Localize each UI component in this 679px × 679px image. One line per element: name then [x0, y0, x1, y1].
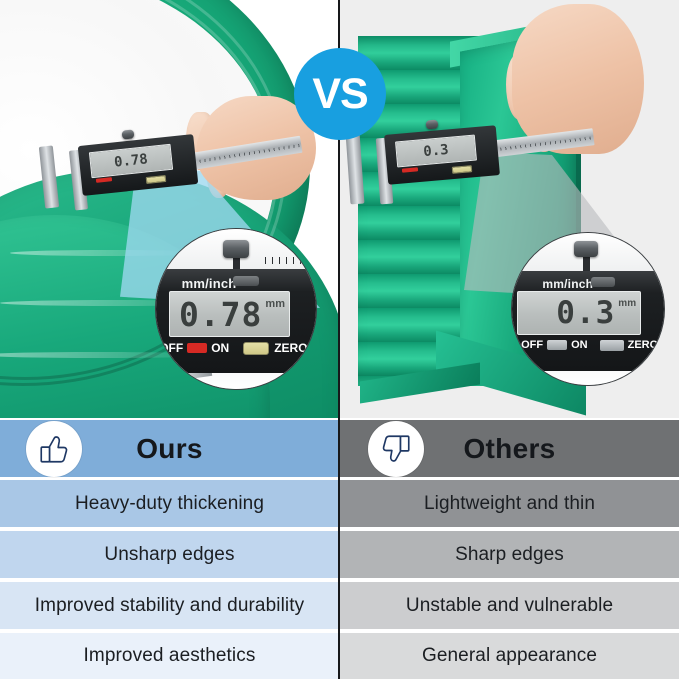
- ours-row-2: Unsharp edges: [0, 531, 339, 578]
- ours-row-3: Improved stability and durability: [0, 582, 339, 629]
- magnifier-left: mm/inch 0.78 mm OFF ON ZERO: [155, 228, 317, 390]
- others-row-2: Sharp edges: [340, 531, 679, 578]
- magnified-switch-slider-left: [187, 343, 207, 353]
- ours-row-1-text: Heavy-duty thickening: [75, 493, 264, 515]
- others-photo-panel: 0.3 mm/inch 0.3 mm OFF: [340, 0, 679, 418]
- magnified-lcd-unit-left: mm: [265, 298, 285, 310]
- magnified-mode-label-right: mm/inch: [542, 277, 593, 291]
- others-row-4: General appearance: [340, 633, 679, 679]
- magnified-zero-label-right: ZERO: [628, 339, 659, 351]
- magnified-switch-on-right: ON: [571, 339, 588, 351]
- caliper-lcd-value-left: 0.78: [114, 152, 149, 169]
- magnified-switch-off-left: OFF: [159, 341, 183, 355]
- magnified-switch-slider-right: [547, 340, 567, 350]
- magnified-zero-label-left: ZERO: [274, 341, 307, 355]
- magnified-thumbwheel-left: [223, 240, 249, 258]
- magnified-mode-button-left: [233, 276, 259, 286]
- thumbs-down-icon: [368, 421, 424, 477]
- magnified-switch-on-left: ON: [211, 341, 229, 355]
- ours-header-row: Ours: [0, 420, 339, 477]
- product-comparison-infographic: 0.78 mm/inch 0.78 mm: [0, 0, 679, 679]
- magnified-zero-button-left: [243, 342, 269, 355]
- magnified-lcd-right: 0.3 mm: [517, 291, 642, 335]
- caliper-thumbwheel-left: [122, 129, 135, 139]
- ours-row-4-text: Improved aesthetics: [84, 645, 256, 667]
- ours-row-4: Improved aesthetics: [0, 633, 339, 679]
- inline-caliper-right: 0.3: [346, 118, 596, 210]
- magnified-switch-row-right: OFF ON ZERO: [521, 339, 664, 351]
- magnified-lcd-value-right: 0.3: [556, 298, 615, 329]
- magnified-mode-button-right: [591, 277, 615, 287]
- others-header-row: Others: [340, 420, 679, 477]
- caliper-lcd-value-right: 0.3: [423, 143, 449, 159]
- caliper-jaw-right-outer: [346, 132, 365, 205]
- ours-row-1: Heavy-duty thickening: [0, 480, 339, 527]
- ours-row-3-text: Improved stability and durability: [35, 595, 304, 617]
- comparison-column-others: Others Lightweight and thin Sharp edges …: [340, 418, 679, 679]
- inline-caliper-left: 0.78: [42, 124, 302, 208]
- caliper-jaw-left-outer: [39, 145, 59, 208]
- magnified-thumbwheel-right: [574, 241, 598, 257]
- magnified-switch-off-right: OFF: [521, 339, 543, 351]
- vs-badge-label: VS: [312, 73, 367, 116]
- thumbs-up-icon: [26, 421, 82, 477]
- caliper-thumbwheel-right: [426, 119, 439, 129]
- ours-photo-panel: 0.78 mm/inch 0.78 mm: [0, 0, 339, 418]
- magnified-lcd-left: 0.78 mm: [169, 291, 290, 337]
- vs-badge: VS: [294, 48, 386, 140]
- magnified-zero-button-right: [600, 340, 624, 351]
- others-row-2-text: Sharp edges: [455, 544, 564, 566]
- ours-row-2-text: Unsharp edges: [104, 544, 234, 566]
- others-row-4-text: General appearance: [422, 645, 597, 667]
- others-row-1: Lightweight and thin: [340, 480, 679, 527]
- others-row-3-text: Unstable and vulnerable: [406, 595, 613, 617]
- magnified-lcd-unit-right: mm: [618, 298, 636, 309]
- magnified-caliper-scale-left: [265, 257, 317, 264]
- comparison-column-ours: Ours Heavy-duty thickening Unsharp edges…: [0, 418, 339, 679]
- others-row-3: Unstable and vulnerable: [340, 582, 679, 629]
- others-row-1-text: Lightweight and thin: [424, 493, 595, 515]
- magnified-lcd-value-left: 0.78: [179, 298, 262, 331]
- magnified-switch-row-left: OFF ON ZERO: [159, 341, 313, 355]
- magnifier-right: mm/inch 0.3 mm OFF ON ZERO: [511, 232, 665, 386]
- magnified-mode-label-left: mm/inch: [182, 276, 237, 291]
